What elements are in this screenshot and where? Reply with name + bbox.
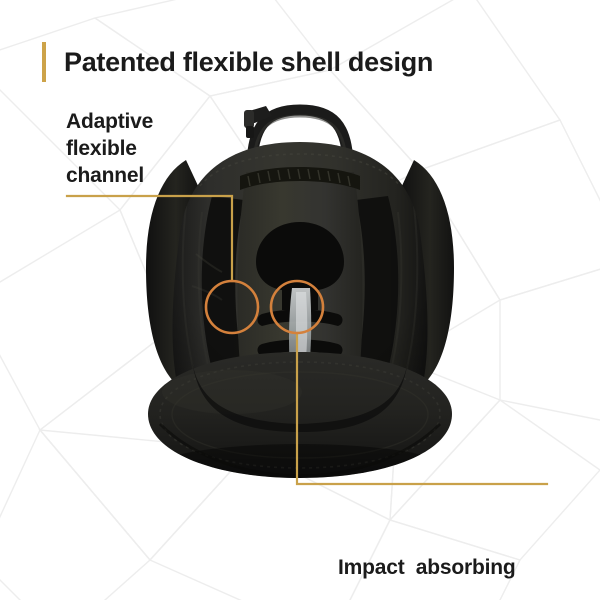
infographic-canvas: Patented flexible shell design Adaptive … [0, 0, 600, 600]
callout-label-line: Adaptive [66, 108, 153, 135]
callout-label-line: channel [66, 162, 153, 189]
callout-label-impact-absorbing-spine: Impact absorbing spine [338, 498, 515, 600]
page-title: Patented flexible shell design [64, 43, 433, 81]
title-accent-bar [42, 42, 46, 82]
callout-label-line: flexible [66, 135, 153, 162]
callout-label-adaptive-flexible-channel: Adaptive flexible channel [66, 108, 153, 189]
callout-label-line: Impact absorbing [338, 554, 515, 582]
